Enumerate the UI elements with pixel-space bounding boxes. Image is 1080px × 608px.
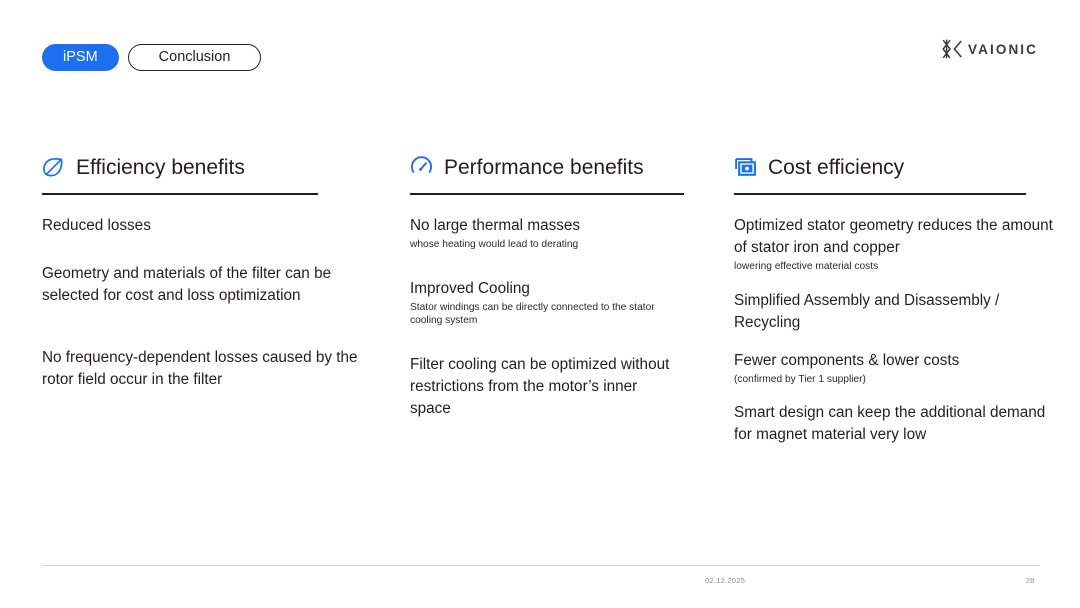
footer-page-number: 28 <box>1026 576 1034 585</box>
column-underline <box>42 193 318 195</box>
list-item: Geometry and materials of the filter can… <box>42 263 358 307</box>
column-title: Efficiency benefits <box>76 157 245 178</box>
column-header: Performance benefits <box>410 152 682 182</box>
item-subtext: whose heating would lead to derating <box>410 238 682 252</box>
item-text: Improved Cooling <box>410 278 682 300</box>
leaf-eco-icon <box>42 156 65 179</box>
list-item: Fewer components & lower costs (confirme… <box>734 350 1040 387</box>
banknotes-money-icon <box>734 156 757 179</box>
column-body: Optimized stator geometry reduces the am… <box>734 215 1040 446</box>
item-subtext: (confirmed by Tier 1 supplier) <box>734 373 1040 387</box>
list-item: Smart design can keep the additional dem… <box>734 402 1040 446</box>
column-underline <box>410 193 684 195</box>
item-text: No large thermal masses <box>410 215 682 237</box>
item-text: Reduced losses <box>42 215 358 237</box>
footer-divider <box>42 565 1040 566</box>
brand-name: VAIONIC <box>968 42 1038 57</box>
slide-header: iPSM Conclusion VAIONIC <box>0 0 1080 100</box>
item-text: Smart design can keep the additional dem… <box>734 402 1059 446</box>
item-text: Optimized stator geometry reduces the am… <box>734 215 1059 259</box>
brand-logo: VAIONIC <box>941 39 1038 59</box>
item-text: Simplified Assembly and Disassembly / Re… <box>734 290 1059 334</box>
column-underline <box>734 193 1026 195</box>
gauge-speedometer-icon <box>410 156 433 179</box>
list-item: Simplified Assembly and Disassembly / Re… <box>734 290 1040 334</box>
item-text: Geometry and materials of the filter can… <box>42 263 358 307</box>
column-body: No large thermal masses whose heating wo… <box>410 215 682 420</box>
list-item: Reduced losses <box>42 215 358 237</box>
tab-conclusion[interactable]: Conclusion <box>128 44 262 71</box>
list-item: No large thermal masses whose heating wo… <box>410 215 682 252</box>
benefits-columns: Efficiency benefits Reduced losses Geome… <box>42 152 1040 462</box>
column-cost-efficiency: Cost efficiency Optimized stator geometr… <box>734 152 1040 462</box>
item-text: Fewer components & lower costs <box>734 350 1059 372</box>
list-item: Filter cooling can be optimized without … <box>410 354 682 420</box>
column-title: Performance benefits <box>444 157 644 178</box>
item-text: Filter cooling can be optimized without … <box>410 354 682 420</box>
footer-date: 02.12.2025 <box>705 576 745 585</box>
item-subtext: Stator windings can be directly connecte… <box>410 301 682 328</box>
list-item: No frequency-dependent losses caused by … <box>42 347 358 391</box>
item-subtext: lowering effective material costs <box>734 260 1040 274</box>
tab-ipsm[interactable]: iPSM <box>42 44 119 71</box>
column-performance: Performance benefits No large thermal ma… <box>410 152 734 462</box>
column-header: Efficiency benefits <box>42 152 358 182</box>
list-item: Optimized stator geometry reduces the am… <box>734 215 1040 274</box>
column-header: Cost efficiency <box>734 152 1040 182</box>
column-title: Cost efficiency <box>768 157 904 178</box>
vaionic-star-chevron-icon <box>941 39 963 59</box>
column-body: Reduced losses Geometry and materials of… <box>42 215 358 391</box>
column-efficiency: Efficiency benefits Reduced losses Geome… <box>42 152 410 462</box>
item-text: No frequency-dependent losses caused by … <box>42 347 358 391</box>
list-item: Improved Cooling Stator windings can be … <box>410 278 682 328</box>
breadcrumb: iPSM Conclusion <box>42 44 261 71</box>
